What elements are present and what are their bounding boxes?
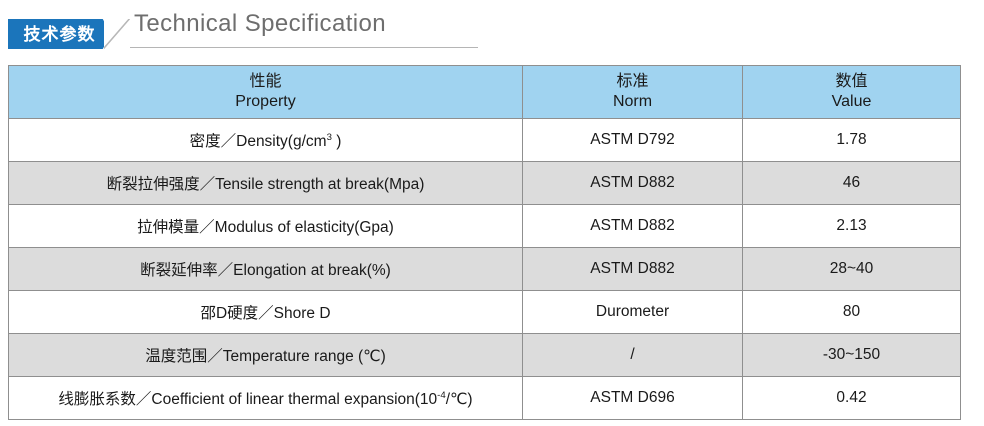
table-row: 拉伸模量／Modulus of elasticity(Gpa)ASTM D882… [9, 205, 961, 248]
cell-norm: ASTM D882 [523, 162, 743, 205]
cell-value: 1.78 [743, 119, 961, 162]
banner-tail-decoration [104, 19, 130, 49]
column-header-property-cn: 性能 [9, 72, 522, 92]
cell-property: 邵D硬度／Shore D [9, 291, 523, 334]
cell-norm: ASTM D696 [523, 377, 743, 420]
cell-value: 80 [743, 291, 961, 334]
cell-property: 密度／Density(g/cm3 ) [9, 119, 523, 162]
table-row: 邵D硬度／Shore DDurometer80 [9, 291, 961, 334]
table-header: 性能 Property 标准 Norm 数值 Value [9, 66, 961, 119]
column-header-value-en: Value [743, 92, 960, 112]
cell-norm: Durometer [523, 291, 743, 334]
table-row: 温度范围／Temperature range (℃)/-30~150 [9, 334, 961, 377]
page-title: Technical Specification [134, 10, 386, 38]
column-header-value: 数值 Value [743, 66, 961, 119]
page-header: 技术参数 Technical Specification [0, 0, 984, 58]
cell-property: 拉伸模量／Modulus of elasticity(Gpa) [9, 205, 523, 248]
cell-property: 断裂延伸率／Elongation at break(%) [9, 248, 523, 291]
table-header-row: 性能 Property 标准 Norm 数值 Value [9, 66, 961, 119]
cell-value: 46 [743, 162, 961, 205]
specification-table-container: 性能 Property 标准 Norm 数值 Value 密度／Density(… [8, 65, 960, 420]
specification-table: 性能 Property 标准 Norm 数值 Value 密度／Density(… [8, 65, 961, 420]
cell-value: 28~40 [743, 248, 961, 291]
cell-property: 温度范围／Temperature range (℃) [9, 334, 523, 377]
cell-norm: ASTM D792 [523, 119, 743, 162]
table-row: 断裂延伸率／Elongation at break(%)ASTM D88228~… [9, 248, 961, 291]
cell-norm: ASTM D882 [523, 205, 743, 248]
column-header-property-en: Property [9, 92, 522, 112]
cell-value: 0.42 [743, 377, 961, 420]
cell-value: 2.13 [743, 205, 961, 248]
title-underline [130, 47, 478, 48]
cell-property: 断裂拉伸强度／Tensile strength at break(Mpa) [9, 162, 523, 205]
cell-norm: / [523, 334, 743, 377]
column-header-value-cn: 数值 [743, 72, 960, 92]
table-row: 线膨胀系数／Coefficient of linear thermal expa… [9, 377, 961, 420]
column-header-norm-en: Norm [523, 92, 742, 112]
table-row: 断裂拉伸强度／Tensile strength at break(Mpa)AST… [9, 162, 961, 205]
column-header-norm-cn: 标准 [523, 72, 742, 92]
cell-value: -30~150 [743, 334, 961, 377]
cell-property: 线膨胀系数／Coefficient of linear thermal expa… [9, 377, 523, 420]
cell-norm: ASTM D882 [523, 248, 743, 291]
section-banner: 技术参数 [8, 19, 111, 49]
table-body: 密度／Density(g/cm3 )ASTM D7921.78断裂拉伸强度／Te… [9, 119, 961, 420]
column-header-norm: 标准 Norm [523, 66, 743, 119]
section-banner-label: 技术参数 [24, 26, 96, 43]
column-header-property: 性能 Property [9, 66, 523, 119]
table-row: 密度／Density(g/cm3 )ASTM D7921.78 [9, 119, 961, 162]
